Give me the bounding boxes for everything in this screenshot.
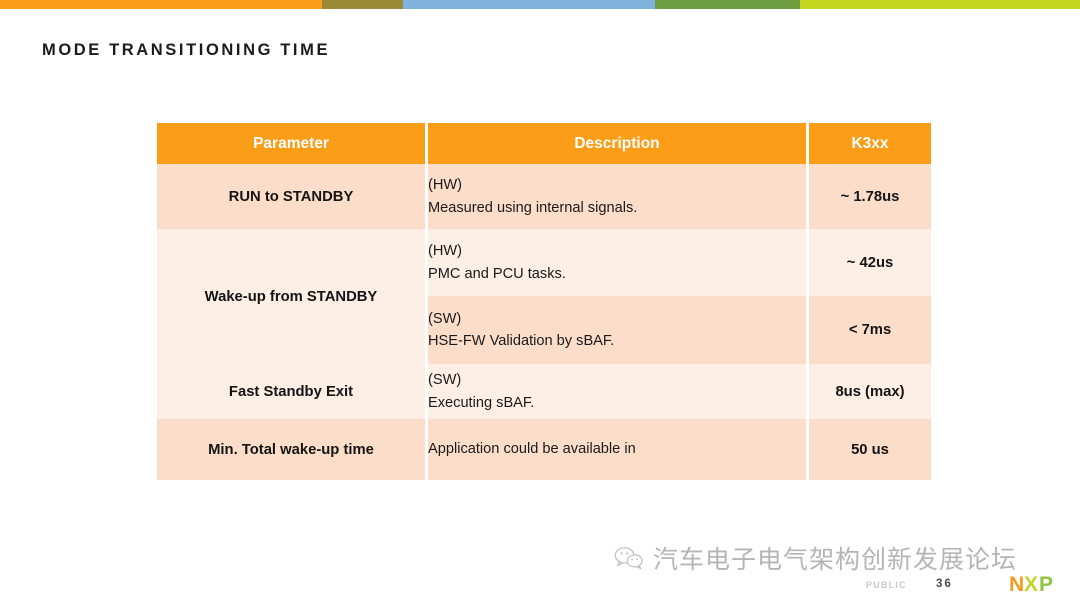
cell-value: ~ 42us [809, 229, 931, 296]
table-row: Wake-up from STANDBY (HW) PMC and PCU ta… [157, 229, 931, 296]
cell-description: (HW) Measured using internal signals. [428, 164, 806, 229]
description-line-2: Executing sBAF. [428, 392, 806, 414]
cell-description: (SW) HSE-FW Validation by sBAF. [428, 296, 806, 364]
watermark-text: 汽车电子电气架构创新发展论坛 [653, 540, 1017, 576]
description-line-1: (SW) [428, 308, 806, 330]
page-title: MODE TRANSITIONING TIME [42, 41, 330, 60]
cell-parameter: Min. Total wake-up time [157, 419, 425, 480]
cell-parameter: Fast Standby Exit [157, 364, 425, 419]
mode-transitioning-time-table: Parameter Description K3xx RUN to STANDB… [157, 123, 922, 480]
description-line-1: (SW) [428, 369, 806, 391]
table-row: Fast Standby Exit (SW) Executing sBAF. 8… [157, 364, 931, 419]
top-color-bar [0, 0, 1080, 9]
description-line-1: Application could be available in [428, 438, 806, 460]
table-row: RUN to STANDBY (HW) Measured using inter… [157, 164, 931, 229]
cell-value: 50 us [809, 419, 931, 480]
cell-description: Application could be available in [428, 419, 806, 480]
topbar-segment-green [655, 0, 800, 9]
svg-text:N: N [1009, 573, 1024, 596]
description-line-2: PMC and PCU tasks. [428, 263, 806, 285]
cell-value: < 7ms [809, 296, 931, 364]
svg-text:P: P [1039, 573, 1053, 596]
column-header-value: K3xx [809, 123, 931, 164]
cell-description: (HW) PMC and PCU tasks. [428, 229, 806, 296]
cell-description: (SW) Executing sBAF. [428, 364, 806, 419]
page-number: 36 [936, 578, 953, 590]
topbar-segment-yellowgreen [800, 0, 1080, 9]
topbar-segment-olive [322, 0, 403, 9]
watermark: 汽车电子电气架构创新发展论坛 [614, 540, 1017, 576]
table-header-row: Parameter Description K3xx [157, 123, 931, 164]
cell-parameter: RUN to STANDBY [157, 164, 425, 229]
wechat-icon [614, 545, 644, 571]
column-header-parameter: Parameter [157, 123, 425, 164]
cell-value: 8us (max) [809, 364, 931, 419]
cell-value: ~ 1.78us [809, 164, 931, 229]
svg-text:X: X [1024, 573, 1038, 596]
public-label: PUBLIC [866, 580, 907, 590]
description-line-1: (HW) [428, 174, 806, 196]
topbar-segment-orange [0, 0, 322, 9]
cell-parameter: Wake-up from STANDBY [157, 229, 425, 364]
nxp-logo: N X P [1009, 573, 1071, 597]
description-line-2: HSE-FW Validation by sBAF. [428, 330, 806, 352]
description-line-1: (HW) [428, 240, 806, 262]
topbar-segment-blue [403, 0, 655, 9]
table-row: Min. Total wake-up time Application coul… [157, 419, 931, 480]
column-header-description: Description [428, 123, 806, 164]
description-line-2: Measured using internal signals. [428, 197, 806, 219]
